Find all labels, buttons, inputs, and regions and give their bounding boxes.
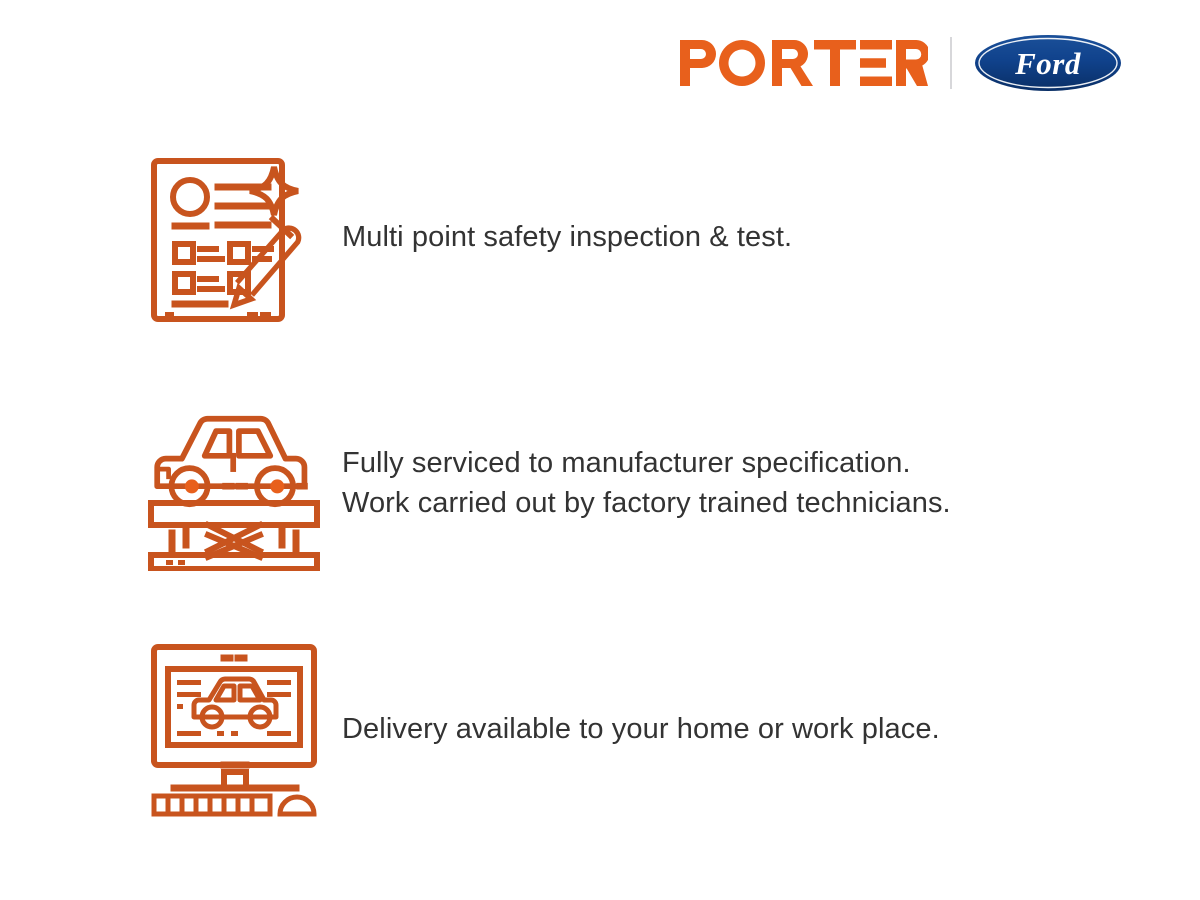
car-on-scissor-lift-icon — [146, 394, 326, 572]
brand-header: PORTER Ford Ford — [680, 34, 1122, 92]
feature-text: Multi point safety inspection & test. — [342, 217, 792, 257]
feature-list: Multi point safety inspection & test. — [146, 148, 1146, 818]
feature-text: Fully serviced to manufacturer specifica… — [342, 443, 951, 523]
feature-row: Multi point safety inspection & test. — [146, 148, 1146, 326]
porter-logo: PORTER — [680, 40, 928, 86]
feature-row: Delivery available to your home or work … — [146, 640, 1146, 818]
feature-text: Delivery available to your home or work … — [342, 709, 940, 749]
clipboard-checklist-pencil-icon — [146, 148, 326, 326]
ford-logo: Ford Ford — [974, 34, 1122, 92]
svg-text:Ford: Ford — [1014, 46, 1081, 81]
feature-row: Fully serviced to manufacturer specifica… — [146, 394, 1146, 572]
logo-divider — [950, 37, 952, 89]
monitor-car-delivery-icon — [146, 640, 326, 818]
